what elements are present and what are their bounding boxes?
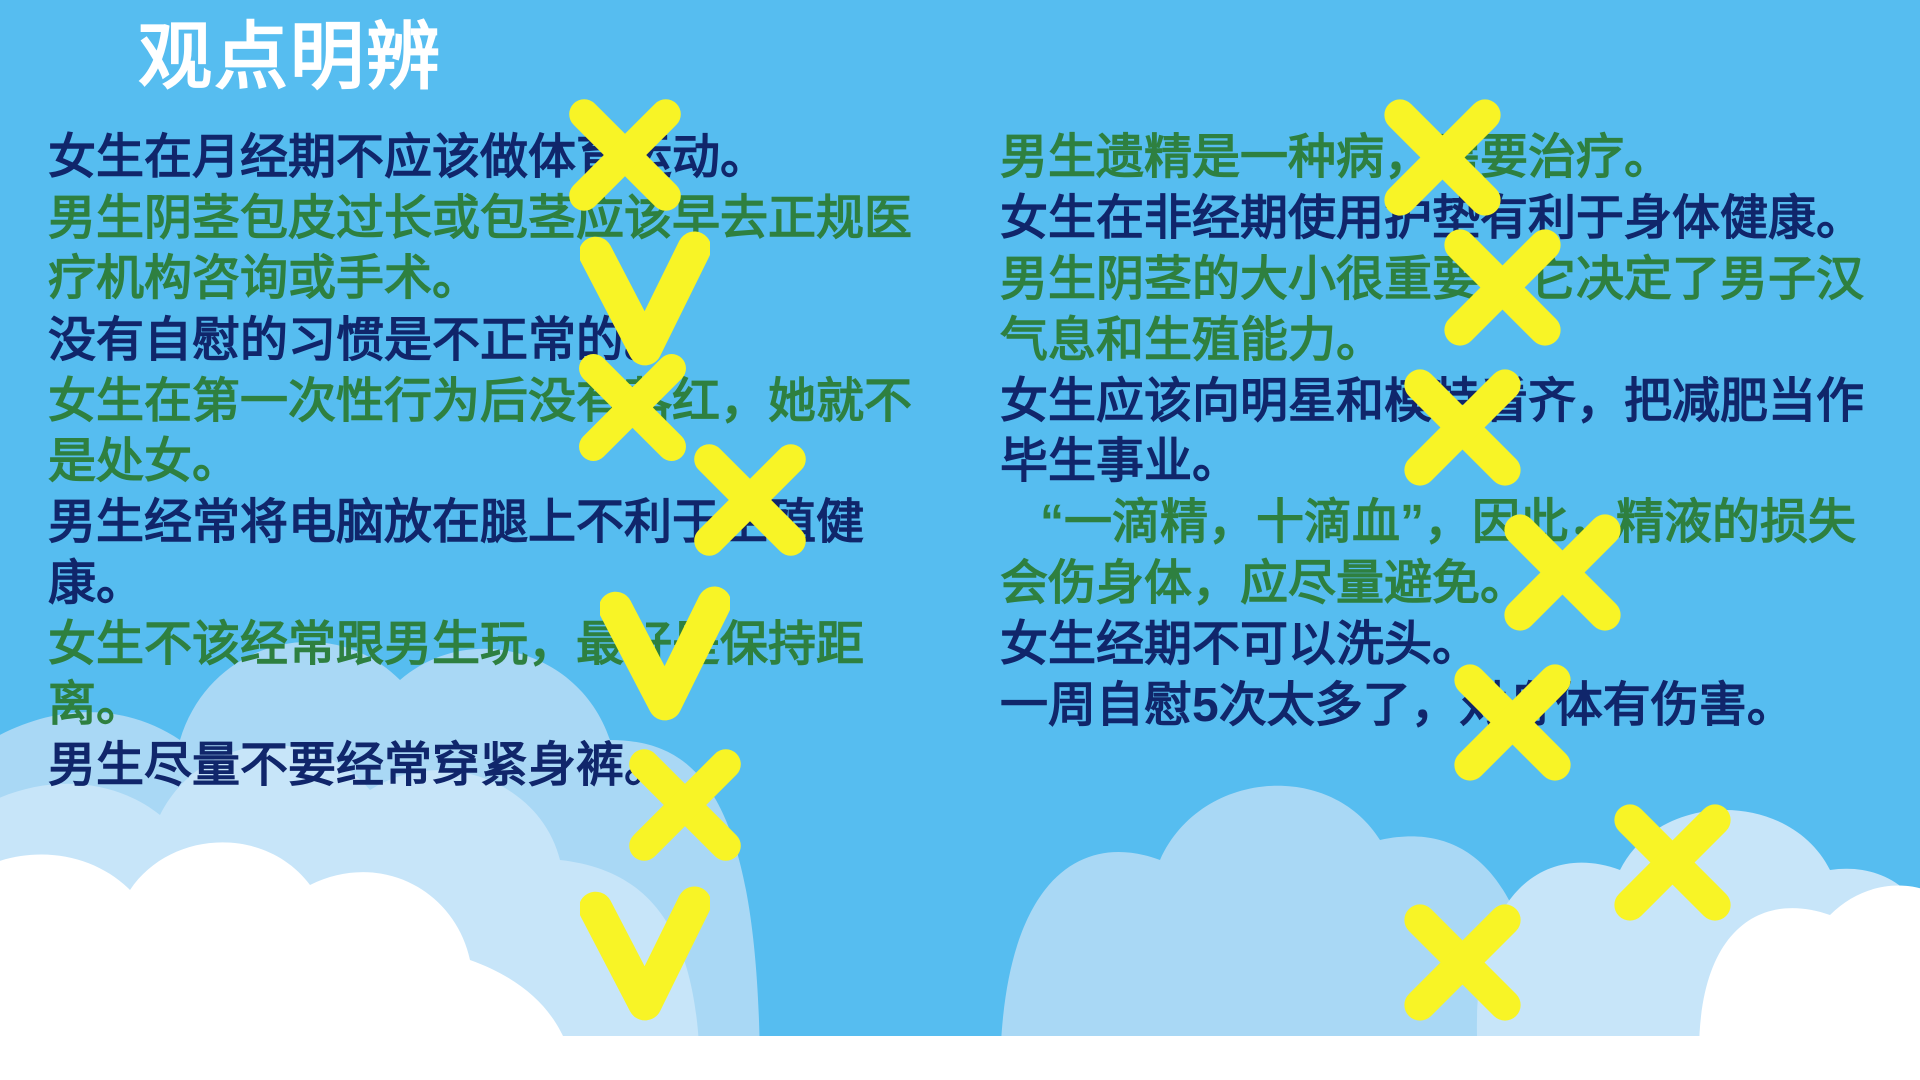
cloud-shape-midblue-right <box>1000 786 1545 1080</box>
statement-item: 男生尽量不要经常穿紧身裤。 <box>48 736 928 796</box>
statement-item: 男生阴茎包皮过长或包茎应该早去正规医疗机构咨询或手术。 <box>48 189 928 309</box>
statement-item: 男生遗精是一种病，需要治疗。 <box>1000 128 1880 188</box>
statement-column-left: 女生在月经期不应该做体育运动。 男生阴茎包皮过长或包茎应该早去正规医疗机构咨询或… <box>48 128 928 798</box>
statement-item: 男生阴茎的大小很重要，它决定了男子汉气息和生殖能力。 <box>1000 250 1880 370</box>
statement-item: 没有自慰的习惯是不正常的。 <box>48 311 928 371</box>
statement-item: 女生经期不可以洗头。 <box>1000 615 1880 675</box>
statement-item: 女生应该向明星和模特看齐，把减肥当作毕生事业。 <box>1000 372 1880 492</box>
statement-item: 女生在月经期不应该做体育运动。 <box>48 128 928 188</box>
statement-item: 一周自慰5次太多了，对身体有伤害。 <box>1000 676 1880 736</box>
statement-item: 男生经常将电脑放在腿上不利于生殖健康。 <box>48 493 928 613</box>
statement-item: 女生不该经常跟男生玩，最好是保持距离。 <box>48 615 928 735</box>
statement-item: “一滴精，十滴血”，因此，精液的损失会伤身体，应尽量避免。 <box>1000 493 1880 613</box>
statement-item: 女生在第一次性行为后没有落红，她就不是处女。 <box>48 372 928 492</box>
page-title: 观点明辨 <box>138 18 442 96</box>
white-bottom-strip <box>0 1036 1920 1080</box>
slide-canvas: 观点明辨 女生在月经期不应该做体育运动。 男生阴茎包皮过长或包茎应该早去正规医疗… <box>0 0 1920 1080</box>
statement-column-right: 男生遗精是一种病，需要治疗。 女生在非经期使用护垫有利于身体健康。 男生阴茎的大… <box>1000 128 1880 737</box>
statement-item: 女生在非经期使用护垫有利于身体健康。 <box>1000 189 1880 249</box>
